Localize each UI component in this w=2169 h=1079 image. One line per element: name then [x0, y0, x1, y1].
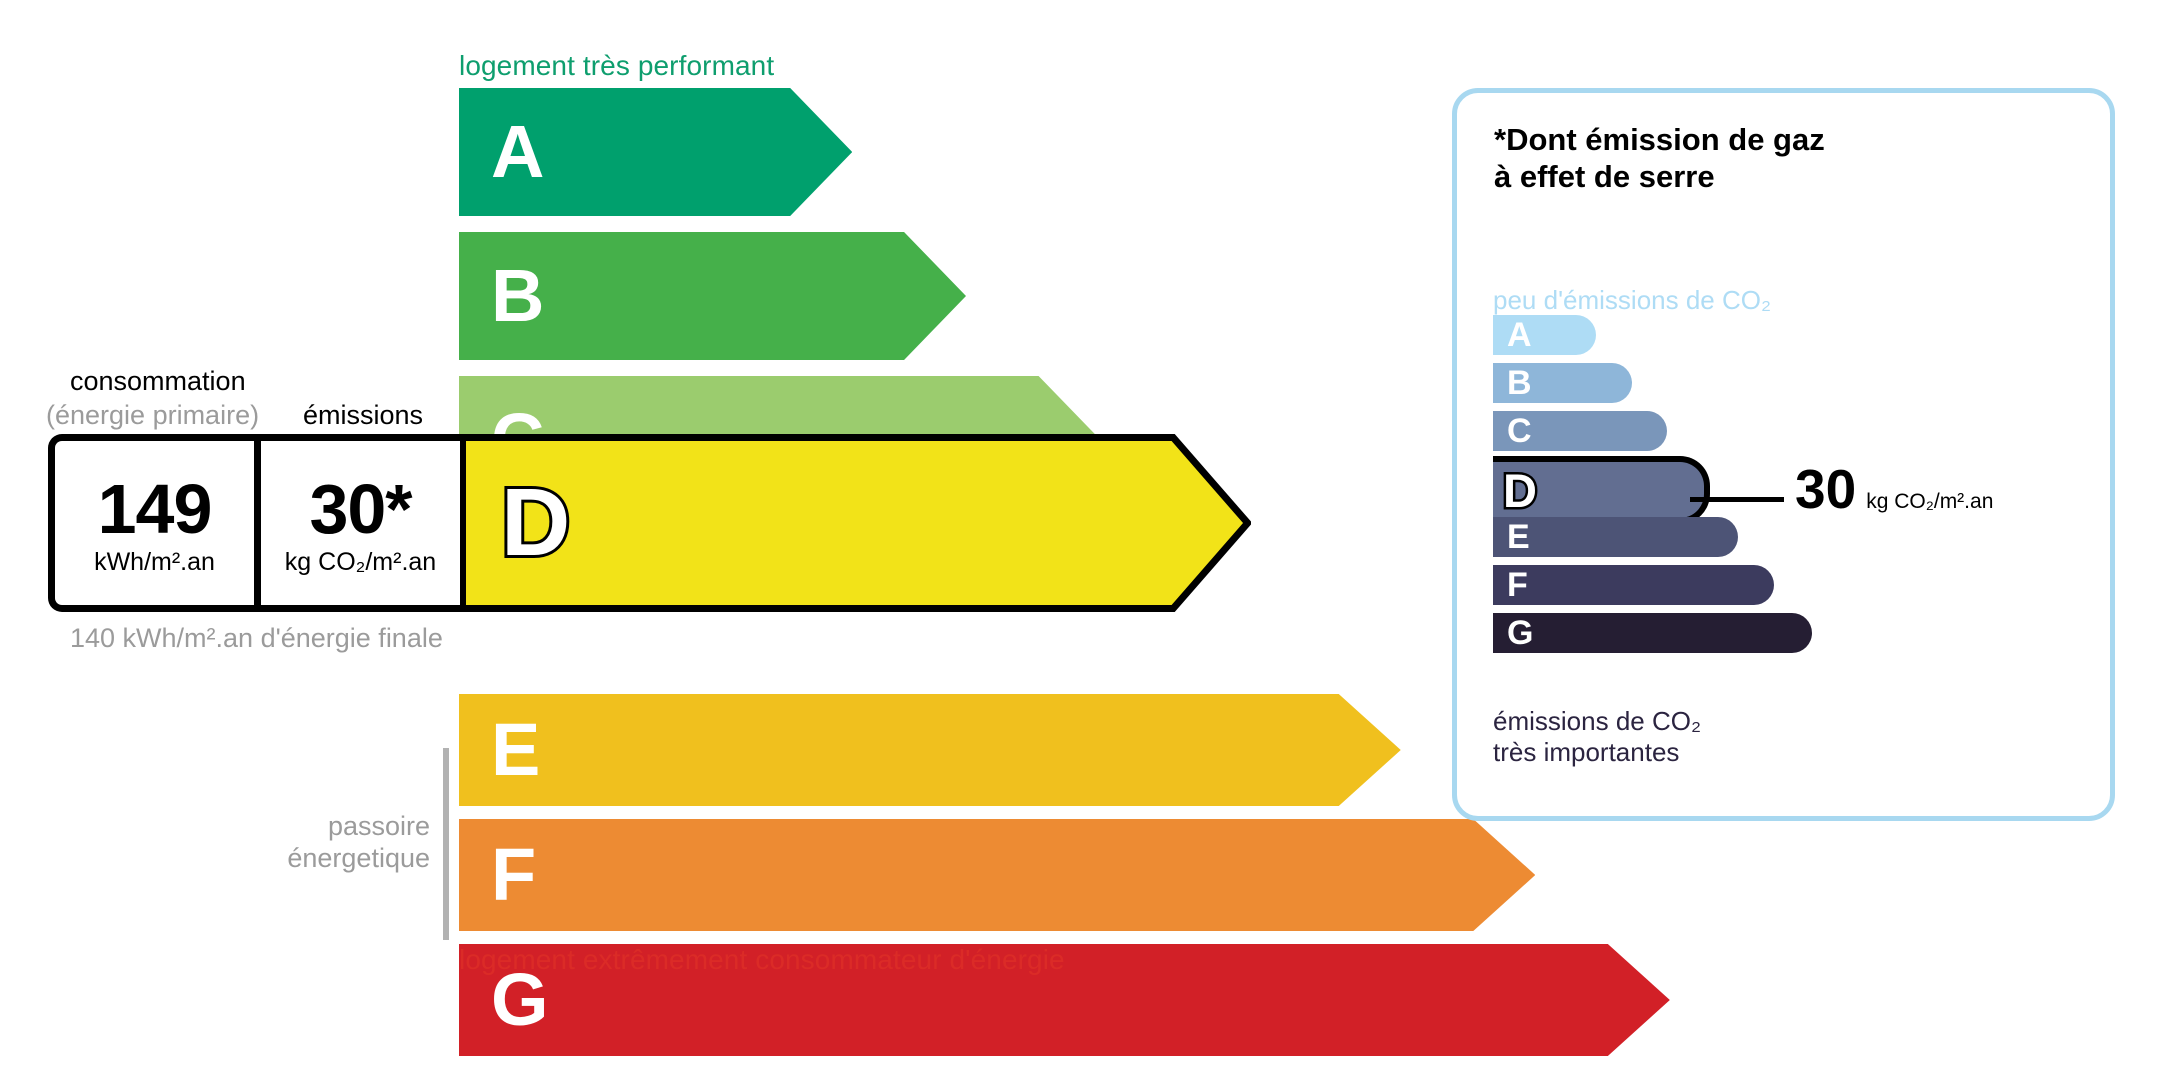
energy-class-arrow-f: F — [459, 819, 1535, 931]
energy-consumption-panel: logement très performant ABCDEFG 149 kWh… — [0, 0, 1400, 1079]
emission-unit: kg CO₂/m².an — [285, 548, 436, 577]
final-energy-note: 140 kWh/m².an d'énergie finale — [70, 623, 443, 655]
energy-class-letter-a: A — [491, 115, 544, 189]
energy-class-arrow-a: A — [459, 88, 852, 216]
energy-top-caption: logement très performant — [459, 50, 774, 82]
emission-value: 30* — [309, 475, 411, 544]
co2-class-letter-a: A — [1507, 318, 1532, 352]
co2-class-bar-d: D — [1493, 456, 1710, 524]
label-consommation: consommation — [70, 366, 246, 397]
co2-panel-title: *Dont émission de gaz à effet de serre — [1494, 121, 1825, 195]
energy-class-arrow-d: D — [459, 434, 1251, 612]
passoire-label: passoire énergetique — [240, 811, 430, 875]
co2-top-caption: peu d'émissions de CO₂ — [1493, 285, 1771, 316]
energy-class-arrow-e: E — [459, 694, 1401, 806]
co2-class-bar-e: E — [1493, 517, 1738, 557]
co2-class-bar-b: B — [1493, 363, 1632, 403]
energy-class-letter-e: E — [491, 713, 540, 787]
co2-callout-value-number: 30 — [1795, 462, 1856, 517]
consumption-unit: kWh/m².an — [94, 548, 215, 577]
co2-class-letter-e: E — [1507, 520, 1530, 554]
energy-bottom-caption: logement extrêmement consommateur d'éner… — [459, 944, 1065, 976]
co2-class-bar-a: A — [1493, 315, 1596, 355]
arrow-shape-f — [459, 819, 1535, 931]
co2-class-letter-c: C — [1507, 414, 1532, 448]
energy-class-letter-f: F — [491, 838, 536, 912]
energy-class-arrow-b: B — [459, 232, 966, 360]
energy-value-box: 149 kWh/m².an 30* kg CO₂/m².an — [48, 434, 460, 612]
co2-class-row-e: E — [1493, 517, 1738, 557]
co2-callout: 30 kg CO₂/m².an — [1795, 462, 1993, 517]
energy-class-letter-d: D — [501, 475, 570, 571]
co2-class-row-d: D — [1493, 456, 1710, 524]
arrow-shape-d — [462, 438, 1247, 609]
co2-class-row-g: G — [1493, 613, 1812, 653]
co2-class-row-b: B — [1493, 363, 1632, 403]
dpe-label: logement très performant ABCDEFG 149 kWh… — [0, 0, 2169, 1079]
co2-class-letter-f: F — [1507, 568, 1528, 602]
consumption-value: 149 — [98, 475, 212, 544]
passoire-bracket — [443, 748, 449, 940]
co2-class-bar-f: F — [1493, 565, 1774, 605]
co2-class-letter-d: D — [1503, 467, 1537, 514]
co2-class-bar-c: C — [1493, 411, 1667, 451]
co2-class-letter-g: G — [1507, 616, 1533, 650]
arrow-shape-e — [459, 694, 1401, 806]
co2-bottom-caption: émissions de CO₂ très importantes — [1493, 706, 1701, 768]
label-energie-primaire: (énergie primaire) — [46, 400, 259, 431]
label-emissions: émissions — [303, 400, 423, 431]
co2-class-letter-b: B — [1507, 366, 1532, 400]
co2-callout-value-unit: kg CO₂/m².an — [1866, 490, 1993, 514]
co2-class-row-c: C — [1493, 411, 1667, 451]
co2-callout-leader-line — [1690, 497, 1784, 502]
co2-emissions-panel: *Dont émission de gaz à effet de serre p… — [1452, 88, 2115, 821]
emission-cell: 30* kg CO₂/m².an — [261, 441, 460, 605]
consumption-cell: 149 kWh/m².an — [55, 441, 261, 605]
co2-class-bar-g: G — [1493, 613, 1812, 653]
co2-class-row-a: A — [1493, 315, 1596, 355]
co2-class-row-f: F — [1493, 565, 1774, 605]
energy-class-letter-b: B — [491, 259, 544, 333]
